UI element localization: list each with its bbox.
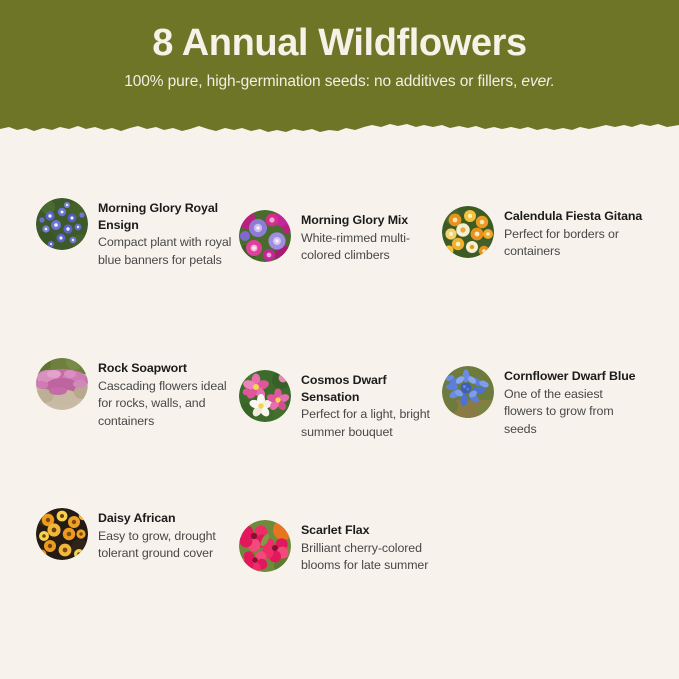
flower-title: Rock Soapwort: [98, 360, 238, 377]
flower-description: White-rimmed multi-colored climbers: [301, 230, 441, 265]
flower-description: Brilliant cherry-colored blooms for late…: [301, 540, 441, 575]
flower-card-daisy-african[interactable]: Daisy African Easy to grow, drought tole…: [36, 508, 239, 628]
flower-title: Cosmos Dwarf Sensation: [301, 372, 441, 405]
flower-description: Cascading flowers ideal for rocks, walls…: [98, 378, 238, 431]
cornflower-dwarf-blue-photo: [442, 366, 494, 418]
flower-card-morning-glory-mix[interactable]: Morning Glory Mix White-rimmed multi-col…: [239, 210, 442, 358]
cosmos-dwarf-sensation-photo: [239, 370, 291, 422]
flower-description: Easy to grow, drought tolerant ground co…: [98, 528, 238, 563]
rock-soapwort-photo: [36, 358, 88, 410]
flower-card-rock-soapwort[interactable]: Rock Soapwort Cascading flowers ideal fo…: [36, 358, 239, 508]
subtitle-emphasis-text: ever.: [521, 73, 554, 90]
flower-description: Compact plant with royal blue banners fo…: [98, 234, 238, 269]
flower-title: Morning Glory Mix: [301, 212, 441, 229]
flower-title: Daisy African: [98, 510, 238, 527]
flower-card-cornflower-dwarf-blue[interactable]: Cornflower Dwarf Blue One of the easiest…: [442, 366, 645, 508]
flower-row-1: Morning Glory Royal Ensign Compact plant…: [0, 198, 679, 358]
page-title: 8 Annual Wildflowers: [152, 22, 527, 66]
flower-title: Morning Glory Royal Ensign: [98, 200, 238, 233]
flower-card-calendula-fiesta-gitana[interactable]: Calendula Fiesta Gitana Perfect for bord…: [442, 206, 645, 358]
flower-title: Calendula Fiesta Gitana: [504, 208, 644, 225]
flower-row-2: Rock Soapwort Cascading flowers ideal fo…: [0, 358, 679, 508]
subtitle-main-text: 100% pure, high-germination seeds: no ad…: [124, 73, 521, 90]
daisy-african-photo: [36, 508, 88, 560]
flower-card-scarlet-flax[interactable]: Scarlet Flax Brilliant cherry-colored bl…: [239, 520, 442, 628]
flower-card-morning-glory-royal-ensign[interactable]: Morning Glory Royal Ensign Compact plant…: [36, 198, 239, 358]
calendula-fiesta-gitana-photo: [442, 206, 494, 258]
flower-description: Perfect for a light, bright summer bouqu…: [301, 406, 441, 441]
morning-glory-mix-photo: [239, 210, 291, 262]
flower-description: Perfect for borders or containers: [504, 226, 644, 261]
page-subtitle: 100% pure, high-germination seeds: no ad…: [124, 73, 555, 91]
flower-row-3: Daisy African Easy to grow, drought tole…: [0, 508, 679, 628]
flower-description: One of the easiest flowers to grow from …: [504, 386, 644, 439]
flower-grid: Morning Glory Royal Ensign Compact plant…: [0, 198, 679, 628]
flower-card-cosmos-dwarf-sensation[interactable]: Cosmos Dwarf Sensation Perfect for a lig…: [239, 370, 442, 508]
flower-title: Scarlet Flax: [301, 522, 441, 539]
morning-glory-royal-ensign-photo: [36, 198, 88, 250]
infographic-page: 8 Annual Wildflowers 100% pure, high-ger…: [0, 0, 679, 679]
scarlet-flax-photo: [239, 520, 291, 572]
header-banner: 8 Annual Wildflowers 100% pure, high-ger…: [0, 0, 679, 140]
flower-title: Cornflower Dwarf Blue: [504, 368, 644, 385]
